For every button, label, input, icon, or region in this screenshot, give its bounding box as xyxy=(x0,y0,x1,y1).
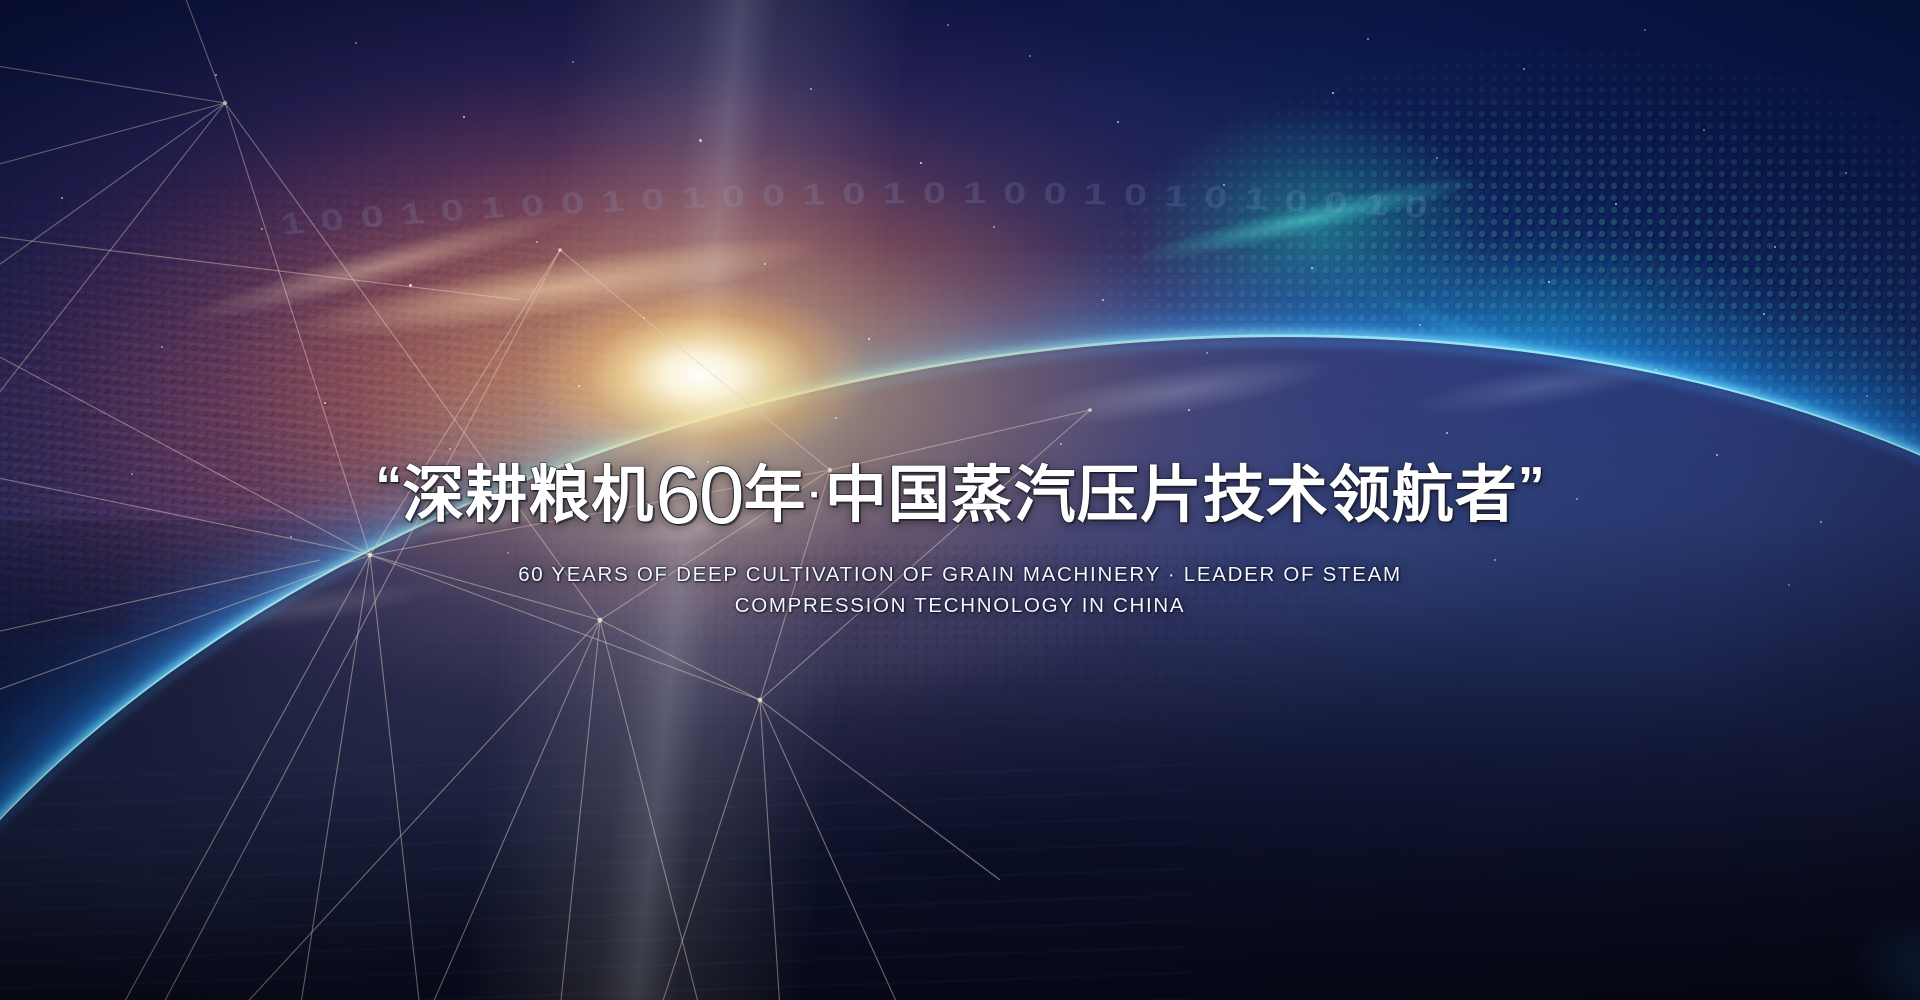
open-quote-mark: “ xyxy=(375,456,402,516)
subtitle-line-1: 60 YEARS OF DEEP CULTIVATION OF GRAIN MA… xyxy=(518,563,1402,586)
headline-part-1: 深耕粮机 xyxy=(402,461,654,530)
hero-banner: 1 0 0 1 0 1 0 0 1 0 1 0 0 1 0 1 0 1 0 0 … xyxy=(0,0,1920,1000)
page-subtitle: 60 YEARS OF DEEP CULTIVATION OF GRAIN MA… xyxy=(460,559,1460,621)
headline-part-2: 年 xyxy=(743,461,806,530)
subtitle-line-2: COMPRESSION TECHNOLOGY IN CHINA xyxy=(460,590,1460,621)
hero-text-block: “深耕粮机60年·中国蒸汽压片技术领航者” 60 YEARS OF DEEP C… xyxy=(0,455,1920,621)
close-quote-mark: ” xyxy=(1518,456,1545,516)
headline-part-3: 中国蒸汽压片技术领航者 xyxy=(825,461,1518,530)
headline-separator: · xyxy=(808,473,822,517)
page-title: “深耕粮机60年·中国蒸汽压片技术领航者” xyxy=(0,455,1920,537)
headline-anniversary-number: 60 xyxy=(655,450,742,541)
